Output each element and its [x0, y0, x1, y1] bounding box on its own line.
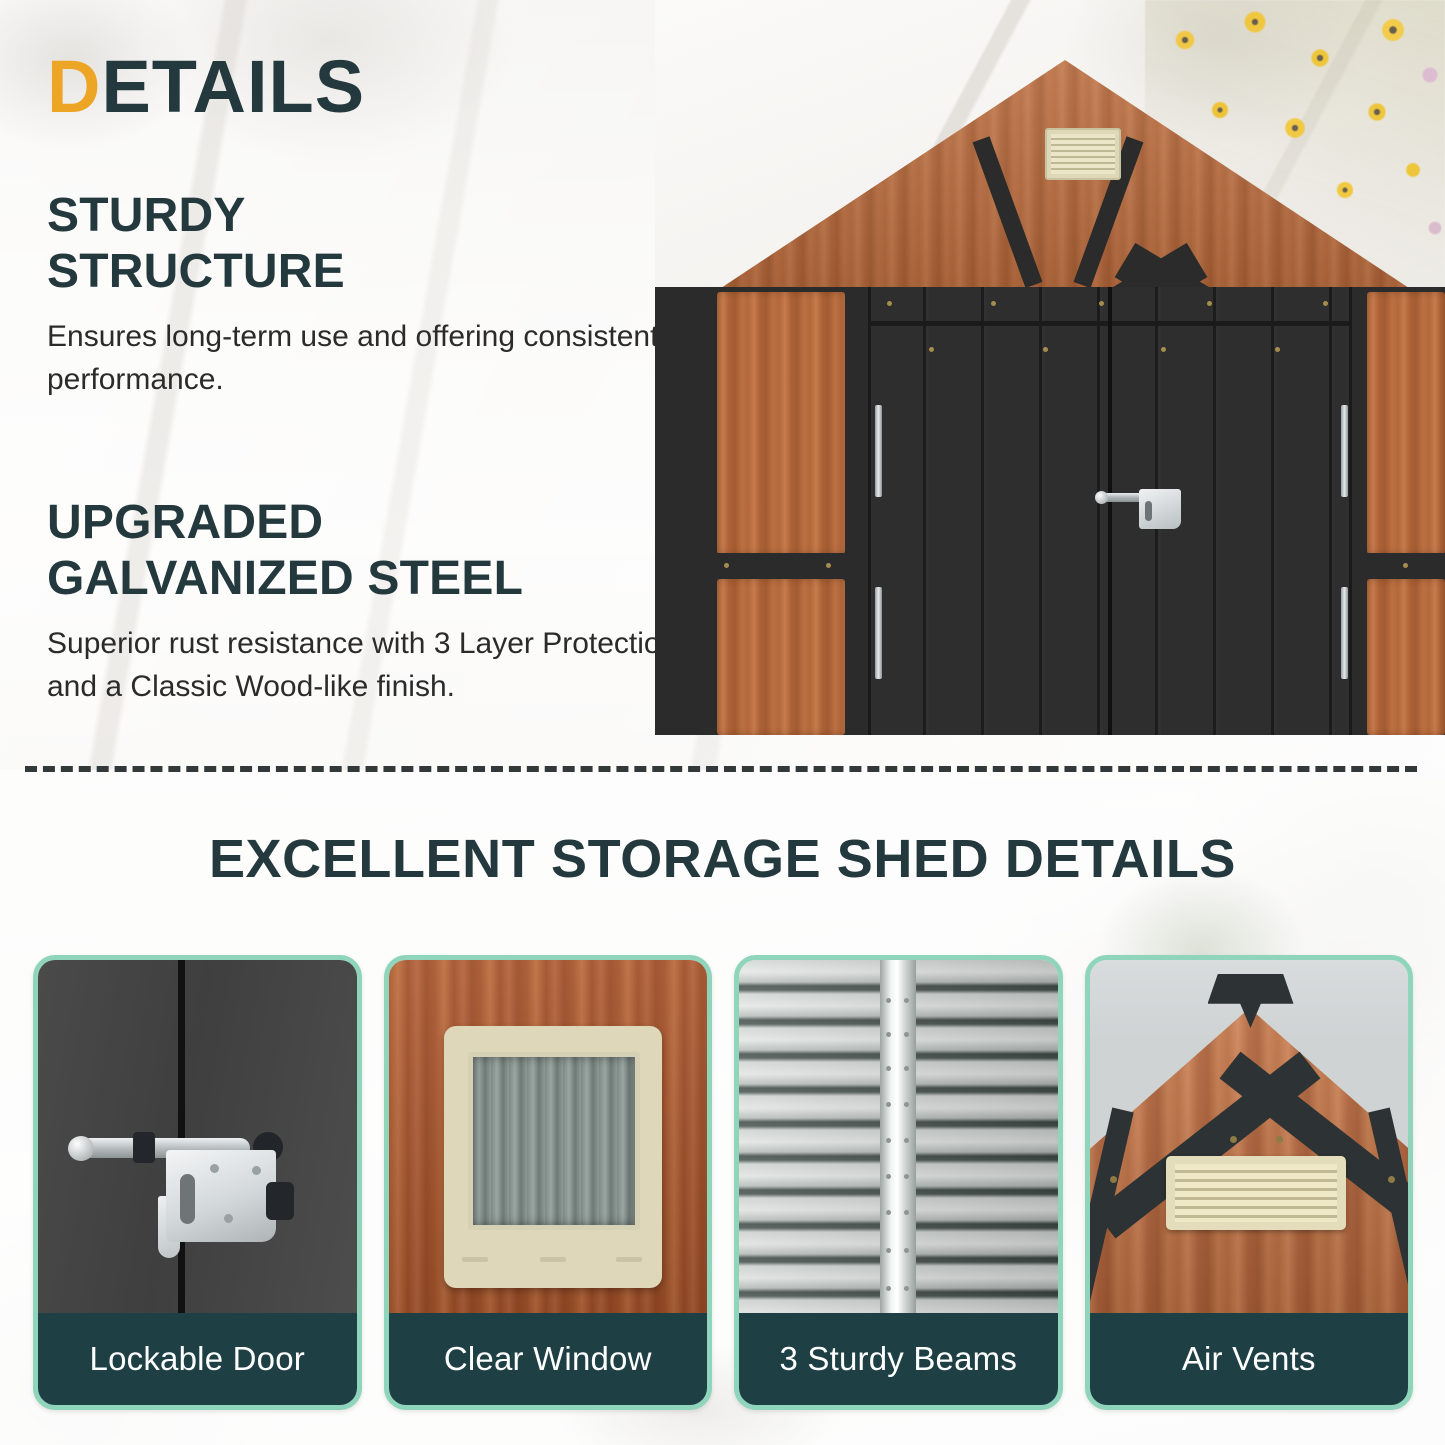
section-heading: EXCELLENT STORAGE SHED DETAILS: [0, 828, 1445, 890]
window-glass: [473, 1057, 635, 1225]
card-media: [739, 960, 1058, 1313]
card-media: [389, 960, 708, 1313]
siding-panel-left-upper: [717, 292, 845, 554]
card-caption: Clear Window: [389, 1313, 708, 1405]
card-caption: Air Vents: [1090, 1313, 1409, 1405]
shed-body: [655, 287, 1445, 735]
window-frame: [444, 1026, 662, 1288]
card-media: [38, 960, 357, 1313]
feature-description: Ensures long-term use and offering consi…: [47, 316, 687, 401]
latch-plate-icon: [166, 1150, 276, 1242]
detail-cards-row: Lockable Door Clear Window: [33, 955, 1413, 1410]
trim-band-right: [1361, 553, 1445, 579]
hero-shed-image: [655, 0, 1445, 735]
shed-doors: [868, 287, 1352, 735]
siding-panel-left-lower: [717, 579, 845, 735]
roof-peak-cap: [1208, 974, 1294, 1028]
card-caption: Lockable Door: [38, 1313, 357, 1405]
trim-band-left: [710, 553, 852, 579]
detail-card-clear-window[interactable]: Clear Window: [384, 955, 713, 1410]
card-caption: 3 Sturdy Beams: [739, 1313, 1058, 1405]
louvered-air-vent: [1166, 1156, 1346, 1230]
door-hinge-right-lower: [1341, 587, 1348, 679]
door-hinge-left-lower: [875, 587, 882, 679]
door-latch-photo: [38, 960, 357, 1313]
detail-card-air-vents[interactable]: Air Vents: [1085, 955, 1414, 1410]
door-latch-hardware: [1099, 483, 1183, 535]
door-hinge-left-upper: [875, 405, 882, 497]
feature-heading: STURDY STRUCTURE: [47, 188, 687, 300]
card-media: [1090, 960, 1409, 1313]
infographic-page: DETAILS STURDY STRUCTURE Ensures long-te…: [0, 0, 1445, 1445]
air-vent-photo: [1090, 960, 1409, 1313]
feature-description: Superior rust resistance with 3 Layer Pr…: [47, 623, 687, 708]
title-rest: ETAILS: [101, 45, 365, 128]
feature-block-sturdy-structure: STURDY STRUCTURE Ensures long-term use a…: [47, 188, 687, 402]
section-divider: [25, 766, 1417, 772]
detail-card-sturdy-beams[interactable]: 3 Sturdy Beams: [734, 955, 1063, 1410]
title-accent-letter: D: [47, 45, 101, 128]
steel-beam: [880, 960, 916, 1313]
siding-panel-right-upper: [1367, 292, 1445, 554]
window-inner-frame: [468, 1052, 640, 1230]
siding-panel-right-lower: [1367, 579, 1445, 735]
feature-heading: UPGRADED GALVANIZED STEEL: [47, 495, 687, 607]
detail-card-lockable-door[interactable]: Lockable Door: [33, 955, 362, 1410]
door-hinge-right-upper: [1341, 405, 1348, 497]
gable-air-vent: [1045, 128, 1121, 180]
page-title: DETAILS: [47, 50, 365, 124]
feature-block-galvanized-steel: UPGRADED GALVANIZED STEEL Superior rust …: [47, 495, 687, 709]
